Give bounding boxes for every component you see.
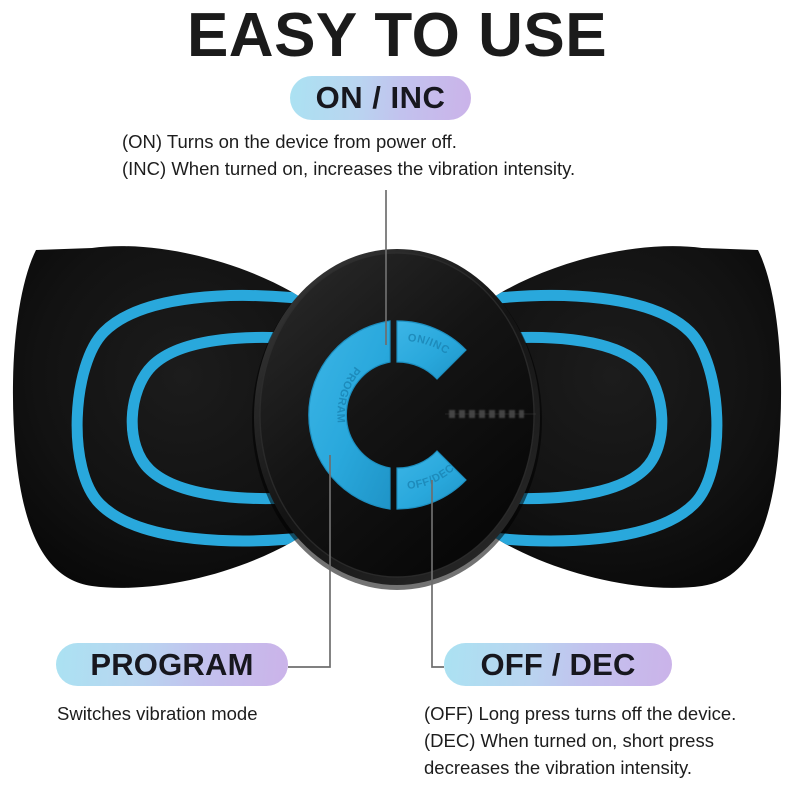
page-title: EASY TO USE bbox=[0, 5, 794, 67]
badge-off-dec-label: OFF / DEC bbox=[480, 647, 635, 683]
description-on-inc: (ON) Turns on the device from power off.… bbox=[122, 128, 682, 182]
device-illustration: ON/INC PROGRAM OFF/DEC bbox=[0, 224, 794, 610]
badge-off-dec: OFF / DEC bbox=[444, 643, 672, 686]
control-disc[interactable]: ON/INC PROGRAM OFF/DEC bbox=[252, 249, 542, 590]
badge-program: PROGRAM bbox=[56, 643, 288, 686]
description-program: Switches vibration mode bbox=[57, 700, 357, 727]
description-off-dec: (OFF) Long press turns off the device. (… bbox=[424, 700, 784, 781]
badge-on-inc: ON / INC bbox=[290, 76, 471, 120]
badge-on-inc-label: ON / INC bbox=[316, 80, 446, 116]
infographic-page: EASY TO USE ON / INC (ON) Turns on the d… bbox=[0, 0, 794, 800]
badge-program-label: PROGRAM bbox=[90, 647, 253, 683]
